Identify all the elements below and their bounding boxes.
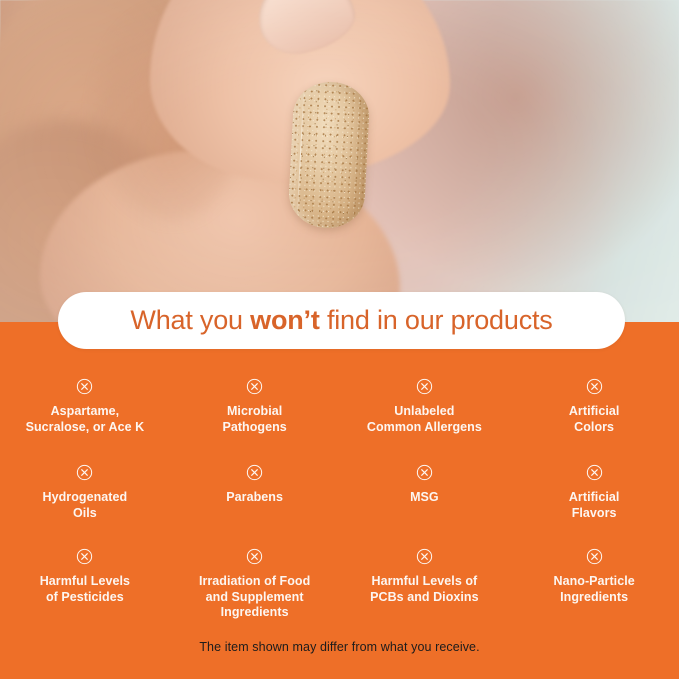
list-item: Aspartame, Sucralose, or Ace K: [0, 372, 170, 458]
list-item: Parabens: [170, 458, 340, 542]
disclaimer-note: The item shown may differ from what you …: [0, 640, 679, 654]
circle-x-icon: [76, 548, 93, 565]
list-item-label: Hydrogenated Oils: [43, 490, 128, 521]
list-item-label: Nano-Particle Ingredients: [554, 574, 635, 605]
list-item-label: Artificial Flavors: [569, 490, 620, 521]
photo-depth-veil: [0, 0, 679, 324]
headline-emphasis: won’t: [250, 305, 319, 335]
list-item: Microbial Pathogens: [170, 372, 340, 458]
circle-x-icon: [76, 378, 93, 395]
list-item: Artificial Flavors: [509, 458, 679, 542]
list-item: MSG: [340, 458, 510, 542]
hero-photo: [0, 0, 679, 324]
list-item: Hydrogenated Oils: [0, 458, 170, 542]
circle-x-icon: [246, 548, 263, 565]
list-item: Harmful Levels of Pesticides: [0, 542, 170, 632]
list-item: Harmful Levels of PCBs and Dioxins: [340, 542, 510, 632]
list-item: Nano-Particle Ingredients: [509, 542, 679, 632]
circle-x-icon: [416, 464, 433, 481]
headline-after: find in our products: [320, 305, 553, 335]
list-item-label: Parabens: [226, 490, 283, 506]
circle-x-icon: [586, 378, 603, 395]
list-item-label: Microbial Pathogens: [222, 404, 286, 435]
circle-x-icon: [586, 464, 603, 481]
circle-x-icon: [246, 378, 263, 395]
product-infographic: What you won’t find in our products Aspa…: [0, 0, 679, 679]
list-item-label: Irradiation of Food and Supplement Ingre…: [199, 574, 310, 621]
excluded-ingredients-grid: Aspartame, Sucralose, or Ace K Microbial…: [0, 372, 679, 632]
circle-x-icon: [416, 548, 433, 565]
list-item-label: Artificial Colors: [569, 404, 620, 435]
list-item-label: Harmful Levels of PCBs and Dioxins: [370, 574, 478, 605]
headline-pill: What you won’t find in our products: [58, 292, 625, 349]
circle-x-icon: [246, 464, 263, 481]
circle-x-icon: [586, 548, 603, 565]
page-title: What you won’t find in our products: [130, 307, 552, 334]
list-item: Irradiation of Food and Supplement Ingre…: [170, 542, 340, 632]
circle-x-icon: [416, 378, 433, 395]
list-item: Artificial Colors: [509, 372, 679, 458]
circle-x-icon: [76, 464, 93, 481]
headline-before: What you: [130, 305, 250, 335]
list-item: Unlabeled Common Allergens: [340, 372, 510, 458]
list-item-label: Harmful Levels of Pesticides: [40, 574, 130, 605]
list-item-label: MSG: [410, 490, 439, 506]
list-item-label: Unlabeled Common Allergens: [367, 404, 482, 435]
list-item-label: Aspartame, Sucralose, or Ace K: [26, 404, 145, 435]
